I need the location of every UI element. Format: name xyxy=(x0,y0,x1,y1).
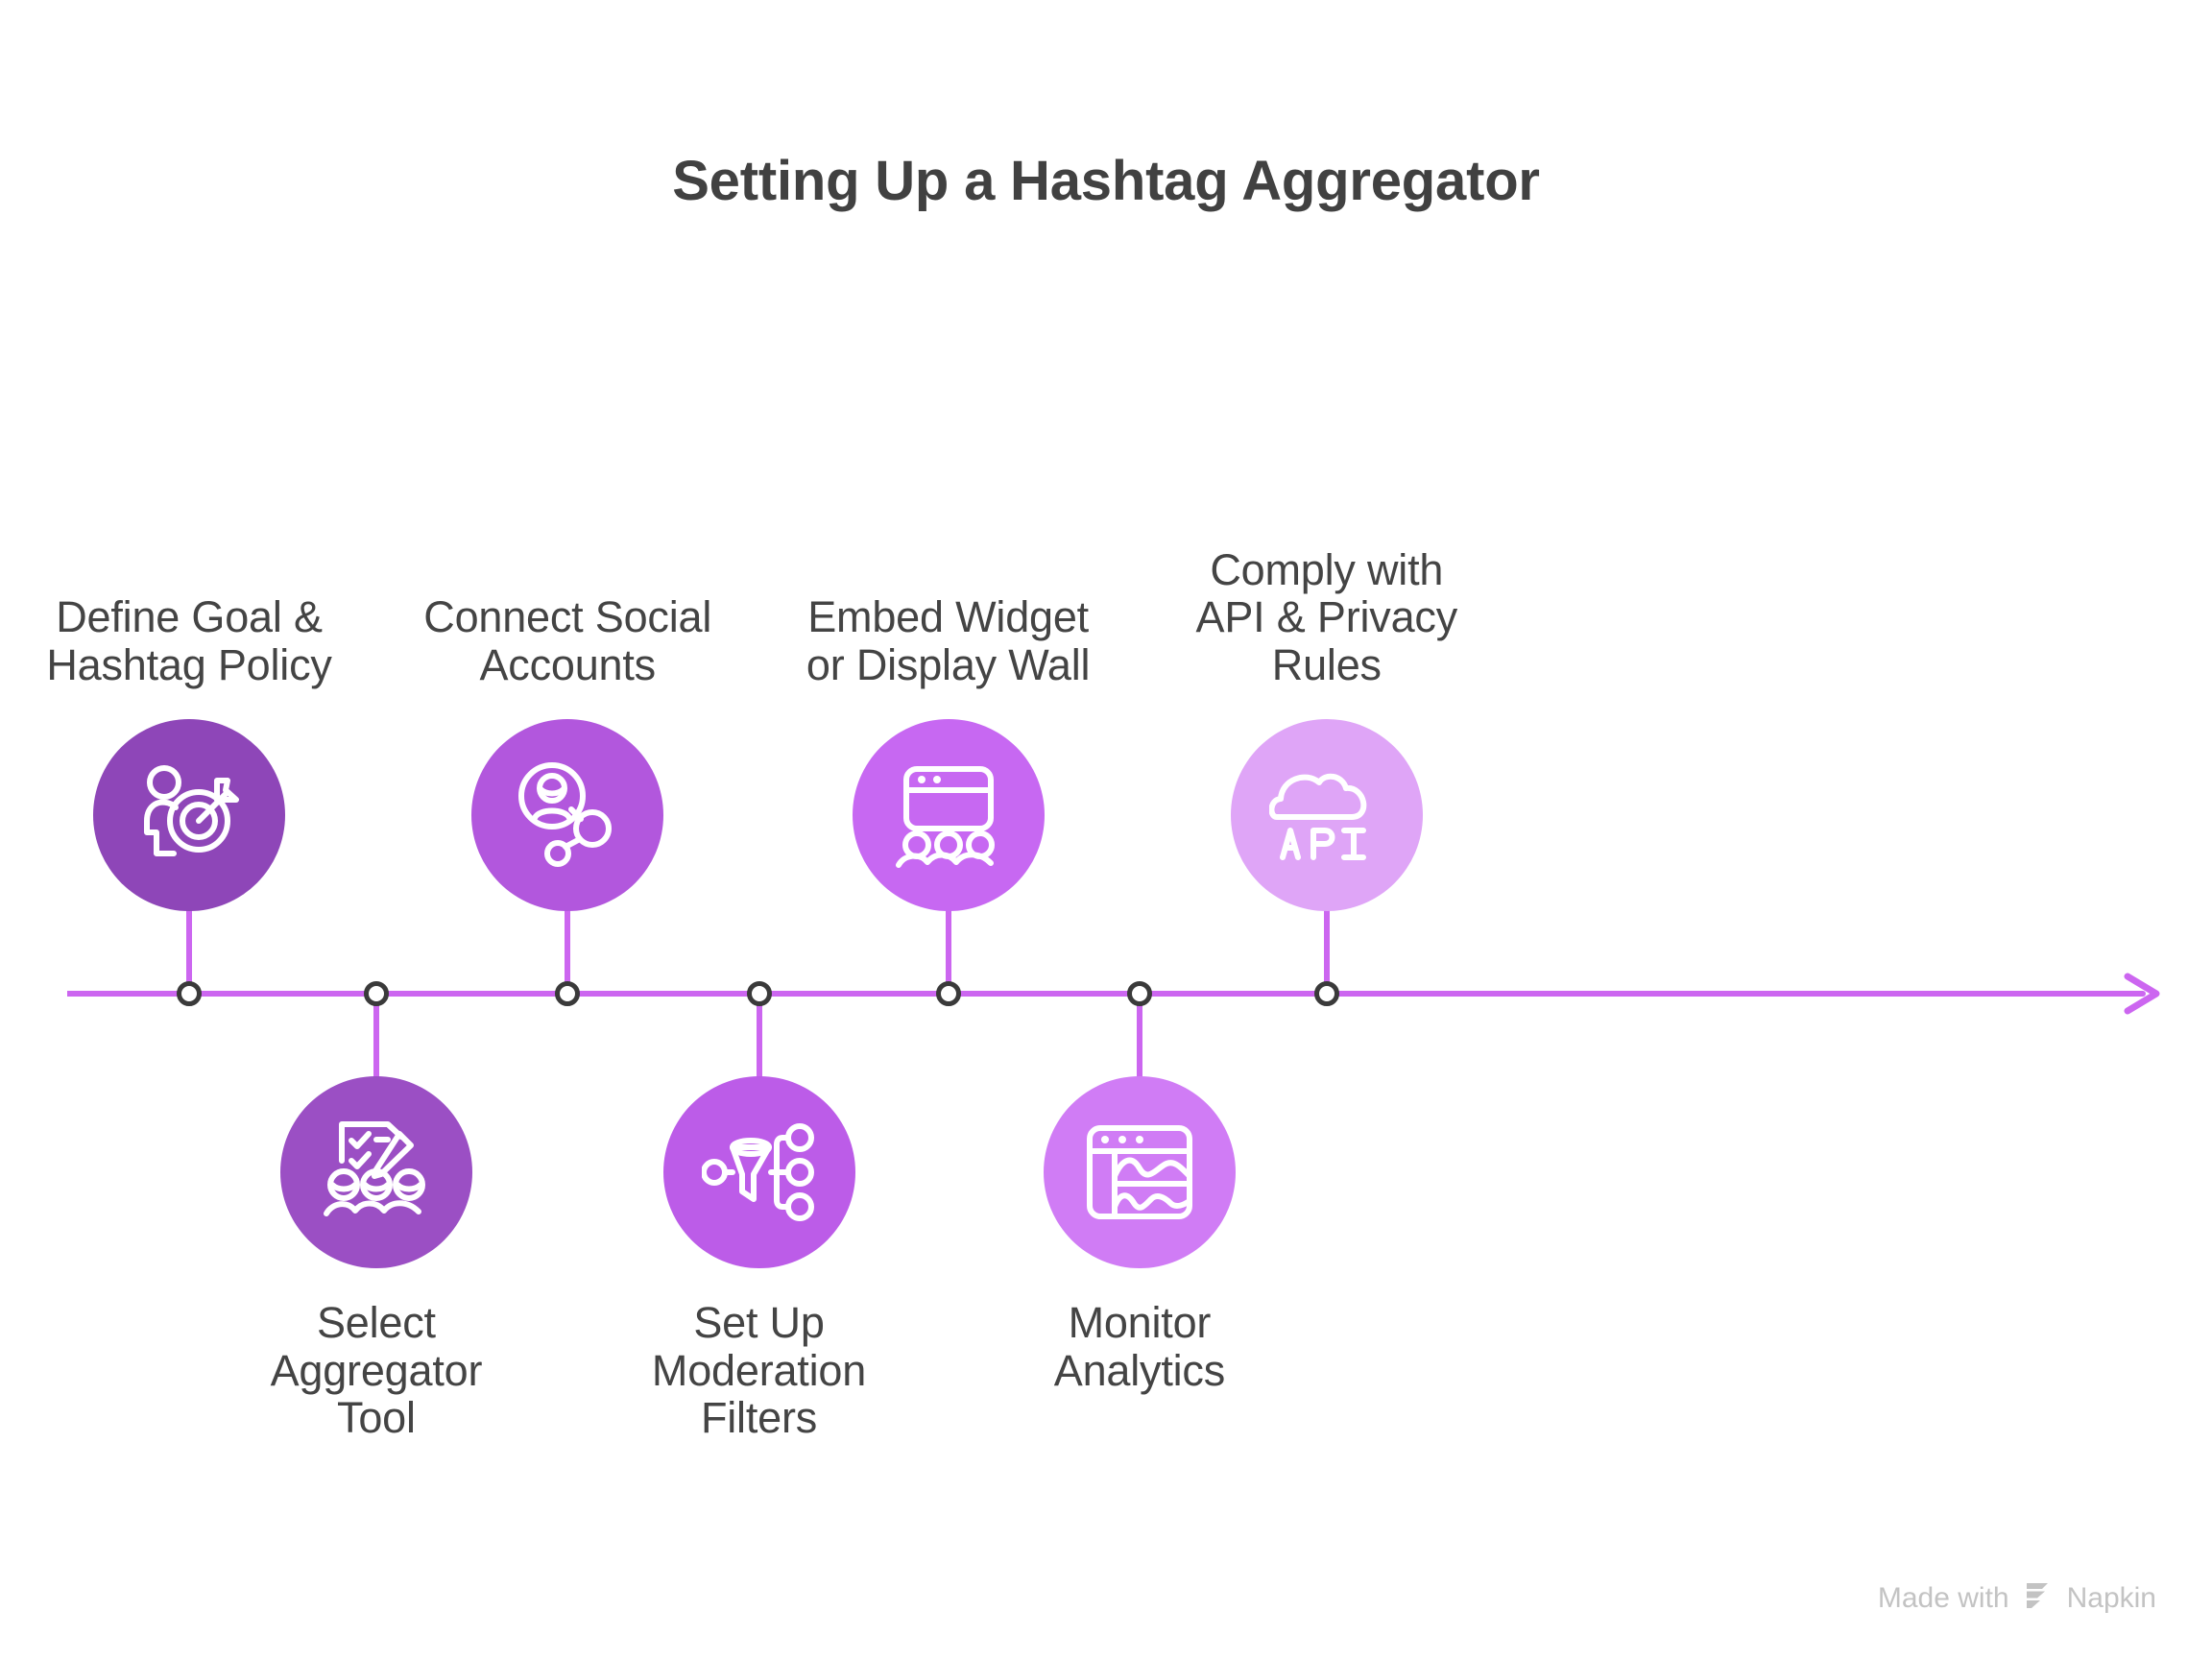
step-connector-stem xyxy=(373,994,379,1078)
watermark-prefix-label: Made with xyxy=(1878,1582,2009,1615)
checklist-pencil-people-icon xyxy=(319,1115,434,1230)
analytics-dashboard-icon xyxy=(1082,1115,1197,1230)
step-connector-stem xyxy=(1137,994,1142,1078)
cloud-api-icon xyxy=(1269,757,1384,873)
timeline-node-marker[interactable] xyxy=(364,981,389,1006)
step-connector-stem xyxy=(757,994,762,1078)
social-network-user-icon xyxy=(510,757,625,873)
step-label: Monitor Analytics xyxy=(928,1299,1351,1394)
timeline-node-marker[interactable] xyxy=(1314,981,1339,1006)
step-icon-bubble[interactable] xyxy=(280,1076,472,1268)
step-label: Select Aggregator Tool xyxy=(165,1299,588,1442)
browser-window-audience-icon xyxy=(891,757,1006,873)
watermark-brand-label: Napkin xyxy=(2067,1582,2156,1615)
step-label: Define Goal & Hashtag Policy xyxy=(0,593,400,688)
person-target-icon xyxy=(132,757,247,873)
napkin-watermark[interactable]: Made with Napkin xyxy=(1878,1578,2156,1619)
timeline-node-marker[interactable] xyxy=(747,981,772,1006)
step-label: Set Up Moderation Filters xyxy=(548,1299,971,1442)
step-label: Embed Widget or Display Wall xyxy=(737,593,1160,688)
step-icon-bubble[interactable] xyxy=(853,719,1045,911)
timeline-node-marker[interactable] xyxy=(936,981,961,1006)
timeline-node-marker[interactable] xyxy=(1127,981,1152,1006)
step-label: Connect Social Accounts xyxy=(356,593,779,688)
step-icon-bubble[interactable] xyxy=(663,1076,855,1268)
step-label: Comply with API & Privacy Rules xyxy=(1116,546,1538,689)
funnel-filter-nodes-icon xyxy=(702,1115,817,1230)
napkin-logo-icon xyxy=(2022,1578,2055,1619)
step-icon-bubble[interactable] xyxy=(1044,1076,1236,1268)
step-icon-bubble[interactable] xyxy=(93,719,285,911)
step-icon-bubble[interactable] xyxy=(1231,719,1423,911)
process-timeline: Define Goal & Hashtag Policy xyxy=(67,994,2170,1051)
page-title: Setting Up a Hashtag Aggregator xyxy=(0,149,2212,213)
step-icon-bubble[interactable] xyxy=(471,719,663,911)
timeline-node-marker[interactable] xyxy=(177,981,202,1006)
